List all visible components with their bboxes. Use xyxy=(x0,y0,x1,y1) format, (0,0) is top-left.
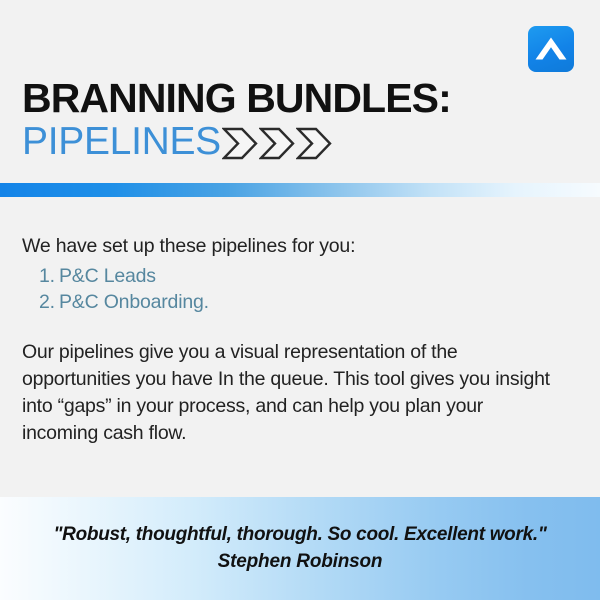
chevron-right-outline-icon xyxy=(259,127,296,160)
testimonial-quote: "Robust, thoughtful, thorough. So cool. … xyxy=(53,522,546,548)
list-item-number: 2. xyxy=(39,289,55,315)
chevron-right-outline-icon xyxy=(222,127,259,160)
header-gradient-divider xyxy=(0,183,600,197)
header-title-block: BRANNING BUNDLES: PIPELINES xyxy=(22,76,582,163)
brand-logo xyxy=(528,26,574,72)
list-item-label: P&C Leads xyxy=(59,265,156,287)
testimonial-author: Stephen Robinson xyxy=(218,549,383,575)
pipeline-list: 1. P&C Leads 2. P&C Onboarding. xyxy=(22,263,574,315)
subtitle-row: PIPELINES xyxy=(22,121,582,163)
list-item: 2. P&C Onboarding. xyxy=(22,289,574,315)
page-subtitle: PIPELINES xyxy=(22,121,221,163)
list-item: 1. P&C Leads xyxy=(22,263,574,289)
chevron-arrow-group xyxy=(222,127,333,160)
list-item-label: P&C Onboarding. xyxy=(59,291,209,313)
list-item-number: 1. xyxy=(39,263,55,289)
chevron-up-logo-icon xyxy=(528,26,574,72)
body-paragraph: Our pipelines give you a visual represen… xyxy=(22,339,562,447)
chevron-right-outline-icon xyxy=(296,127,333,160)
page-title: BRANNING BUNDLES: xyxy=(22,76,582,120)
main-content: We have set up these pipelines for you: … xyxy=(22,233,574,315)
slide-canvas: BRANNING BUNDLES: PIPELINES xyxy=(0,0,600,600)
lead-paragraph: We have set up these pipelines for you: xyxy=(22,233,574,260)
testimonial-footer: "Robust, thoughtful, thorough. So cool. … xyxy=(0,497,600,600)
